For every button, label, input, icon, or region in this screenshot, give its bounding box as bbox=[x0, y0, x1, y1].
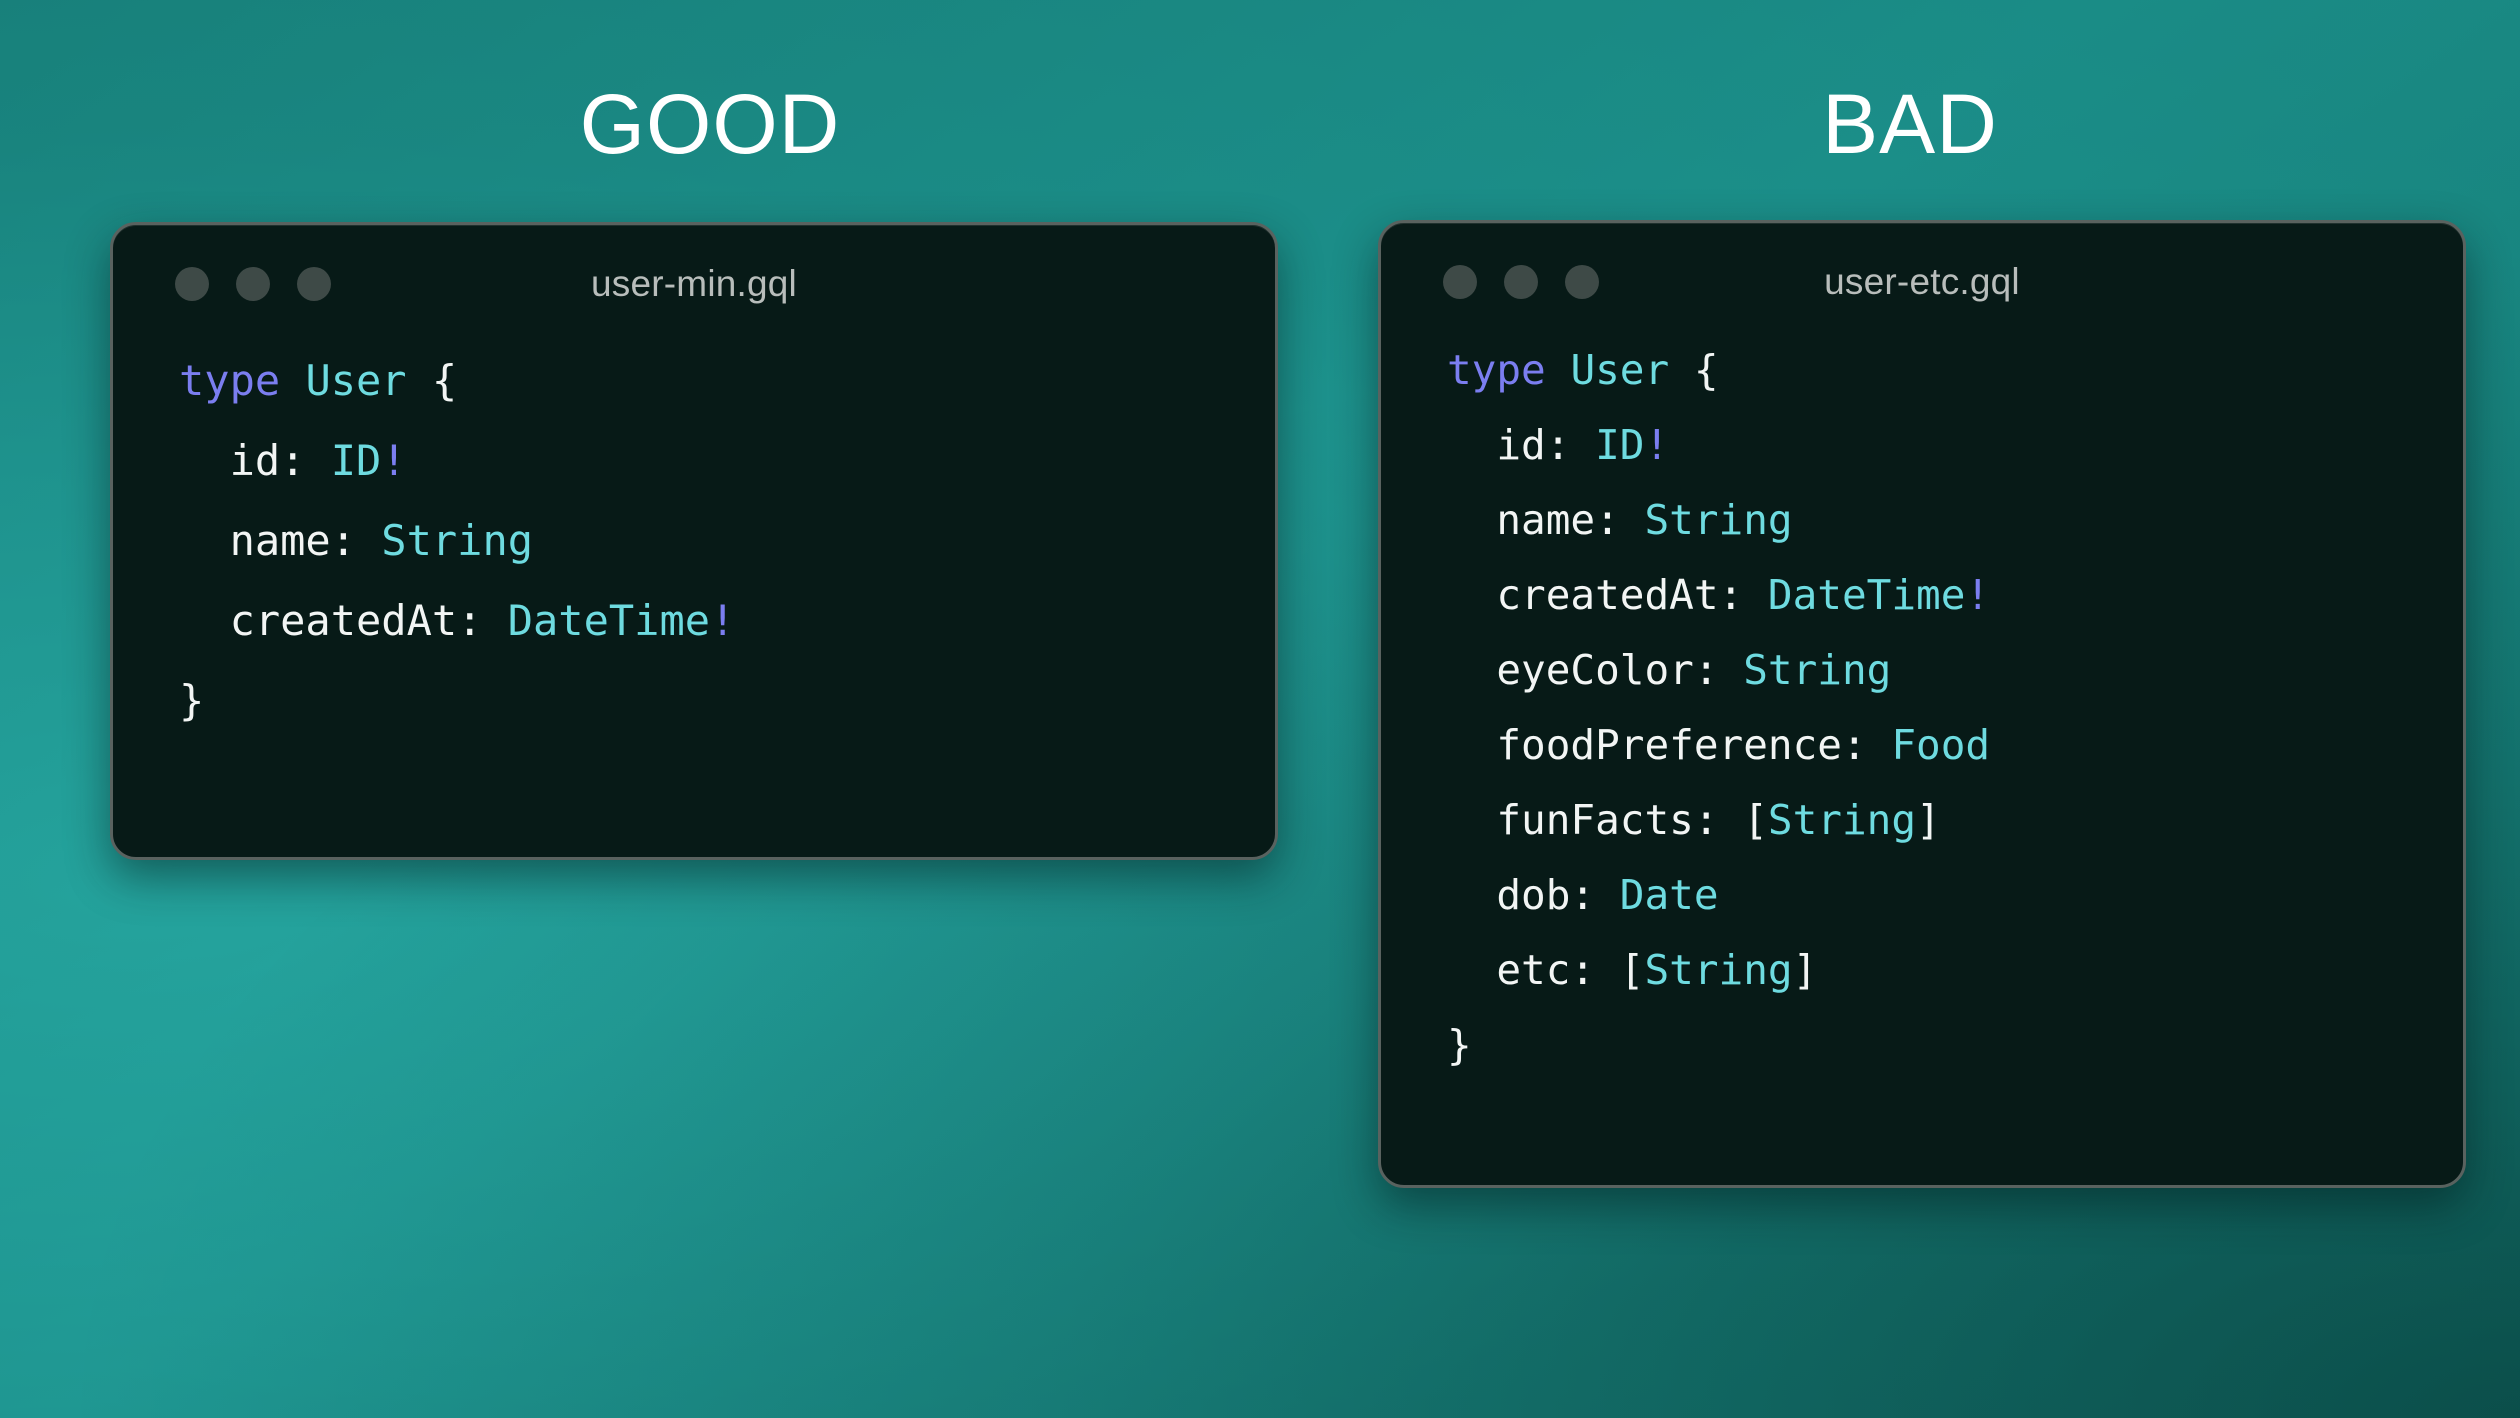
code-token-typename: ID bbox=[1595, 421, 1644, 469]
code-line: type User { bbox=[1447, 333, 2463, 408]
code-token-plain: etc: [ bbox=[1447, 946, 1644, 994]
code-token-plain: { bbox=[1669, 346, 1718, 394]
code-line: eyeColor: String bbox=[1447, 633, 2463, 708]
code-token-typename: String bbox=[1743, 646, 1891, 694]
code-line: } bbox=[1447, 1008, 2463, 1083]
code-token-plain: id: bbox=[179, 436, 331, 485]
code-token-plain: ] bbox=[1916, 796, 1941, 844]
code-line: createdAt: DateTime! bbox=[1447, 558, 2463, 633]
code-token-plain: ] bbox=[1793, 946, 1818, 994]
code-window-bad: user-etc.gql type User { id: ID! name: S… bbox=[1378, 220, 2466, 1188]
code-token-plain: id: bbox=[1447, 421, 1595, 469]
code-line: foodPreference: Food bbox=[1447, 708, 2463, 783]
code-token-keyword: ! bbox=[710, 596, 735, 645]
code-token-typename: String bbox=[381, 516, 533, 565]
code-token-typename: Date bbox=[1620, 871, 1719, 919]
code-token-keyword: ! bbox=[1644, 421, 1669, 469]
code-line: createdAt: DateTime! bbox=[179, 581, 1275, 661]
code-window-good: user-min.gql type User { id: ID! name: S… bbox=[110, 222, 1278, 860]
code-token-typename: String bbox=[1644, 946, 1792, 994]
code-token-keyword: type bbox=[1447, 346, 1546, 394]
code-token-plain: dob: bbox=[1447, 871, 1620, 919]
code-token-plain bbox=[280, 356, 305, 405]
code-line: id: ID! bbox=[179, 421, 1275, 501]
code-token-typename: User bbox=[1570, 346, 1669, 394]
code-token-typename: ID bbox=[331, 436, 382, 485]
code-token-typename: Food bbox=[1891, 721, 1990, 769]
code-token-plain: name: bbox=[1447, 496, 1644, 544]
code-token-typename: User bbox=[305, 356, 406, 405]
code-token-plain: funFacts: [ bbox=[1447, 796, 1768, 844]
window-filename-good: user-min.gql bbox=[113, 265, 1275, 302]
code-token-plain bbox=[1546, 346, 1571, 394]
code-token-plain: eyeColor: bbox=[1447, 646, 1743, 694]
window-titlebar-bad: user-etc.gql bbox=[1381, 223, 2463, 333]
window-titlebar-good: user-min.gql bbox=[113, 225, 1275, 335]
column-heading-good: GOOD bbox=[340, 82, 1080, 166]
code-token-plain: } bbox=[179, 676, 204, 725]
comparison-stage: GOOD user-min.gql type User { id: ID! na… bbox=[0, 0, 2520, 1418]
code-line: dob: Date bbox=[1447, 858, 2463, 933]
code-token-plain: name: bbox=[179, 516, 381, 565]
code-block-good: type User { id: ID! name: String created… bbox=[113, 341, 1275, 741]
code-line: name: String bbox=[1447, 483, 2463, 558]
code-line: id: ID! bbox=[1447, 408, 2463, 483]
window-filename-bad: user-etc.gql bbox=[1381, 263, 2463, 300]
code-token-plain: } bbox=[1447, 1021, 1472, 1069]
code-line: name: String bbox=[179, 501, 1275, 581]
code-token-keyword: ! bbox=[1965, 571, 1990, 619]
code-line: funFacts: [String] bbox=[1447, 783, 2463, 858]
code-block-bad: type User { id: ID! name: String created… bbox=[1381, 333, 2463, 1083]
code-token-keyword: type bbox=[179, 356, 280, 405]
code-token-plain: createdAt: bbox=[179, 596, 508, 645]
code-token-plain: foodPreference: bbox=[1447, 721, 1891, 769]
code-token-plain: { bbox=[407, 356, 458, 405]
code-line: type User { bbox=[179, 341, 1275, 421]
code-token-keyword: ! bbox=[381, 436, 406, 485]
code-token-plain: createdAt: bbox=[1447, 571, 1768, 619]
code-token-typename: DateTime bbox=[508, 596, 710, 645]
code-line: } bbox=[179, 661, 1275, 741]
code-line: etc: [String] bbox=[1447, 933, 2463, 1008]
code-token-typename: DateTime bbox=[1768, 571, 1965, 619]
code-token-typename: String bbox=[1768, 796, 1916, 844]
column-heading-bad: BAD bbox=[1540, 82, 2280, 166]
code-token-typename: String bbox=[1644, 496, 1792, 544]
